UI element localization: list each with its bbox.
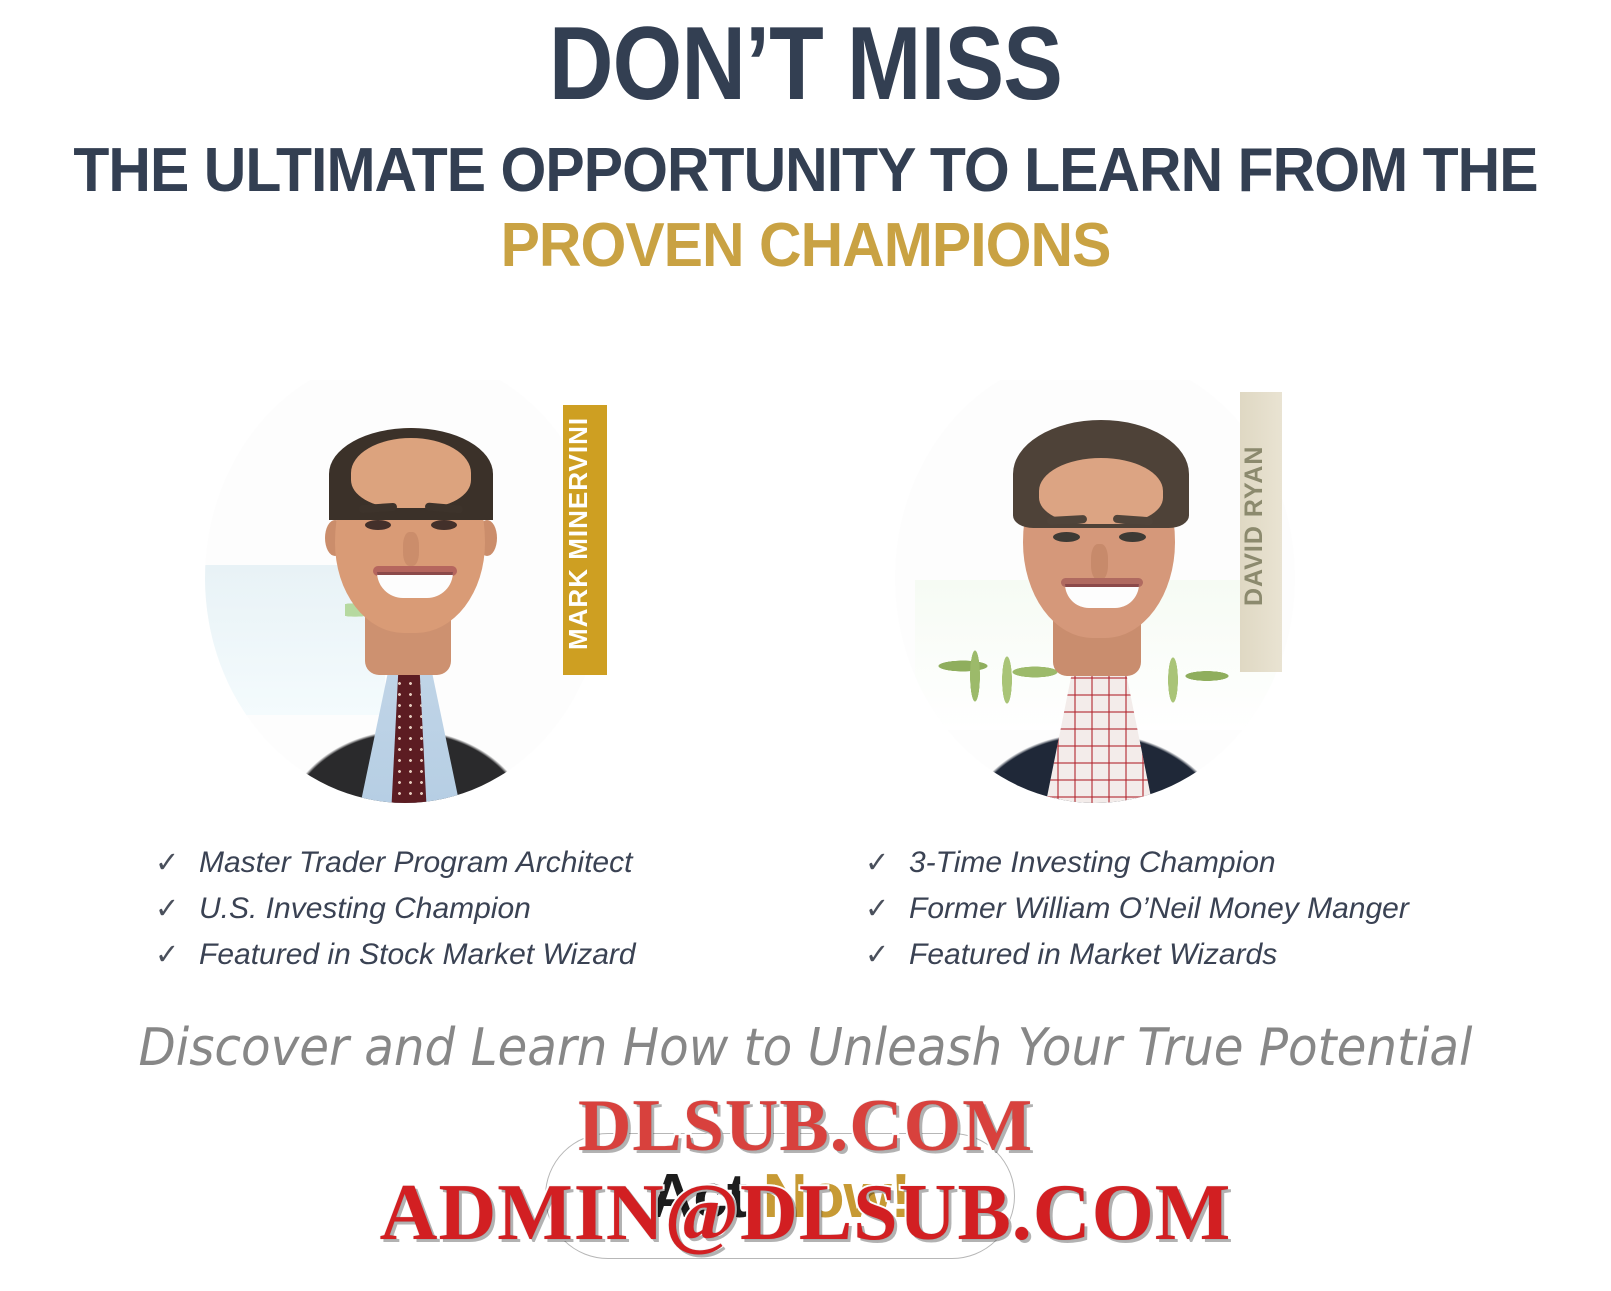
headline-line-1: DON’T MISS	[113, 12, 1498, 116]
list-item-label: Featured in Stock Market Wizard	[199, 938, 636, 972]
tagline: Discover and Learn How to Unleash Your T…	[56, 1018, 1554, 1078]
speaker-name-bar-mark-minervini: MARK MINERVINI	[563, 405, 607, 675]
speaker-photo-wrap-right: DAVID RYAN	[875, 370, 1320, 830]
credentials-list-david-ryan: ✓ 3-Time Investing Champion ✓ Former Wil…	[865, 845, 1409, 983]
list-item-label: Former William O’Neil Money Manger	[909, 892, 1409, 926]
check-icon: ✓	[155, 845, 199, 880]
watermark-email: ADMIN@DLSUB.COM	[0, 1168, 1611, 1259]
list-item-label: Featured in Market Wizards	[909, 938, 1277, 972]
check-icon: ✓	[155, 937, 199, 972]
credentials-list-mark-minervini: ✓ Master Trader Program Architect ✓ U.S.…	[155, 845, 636, 983]
headline-line-2: THE ULTIMATE OPPORTUNITY TO LEARN FROM T…	[40, 140, 1570, 202]
speaker-portrait-mark-minervini	[205, 380, 605, 830]
check-icon: ✓	[865, 891, 909, 926]
check-icon: ✓	[865, 937, 909, 972]
list-item: ✓ Featured in Market Wizards	[865, 937, 1409, 972]
list-item: ✓ Former William O’Neil Money Manger	[865, 891, 1409, 926]
speaker-card-david-ryan: DAVID RYAN	[875, 370, 1320, 830]
speaker-name-bar-david-ryan: DAVID RYAN	[1240, 392, 1282, 672]
speaker-portrait-david-ryan	[895, 380, 1295, 830]
list-item: ✓ Featured in Stock Market Wizard	[155, 937, 636, 972]
list-item-label: Master Trader Program Architect	[199, 846, 632, 880]
watermark-site: DLSUB.COM	[0, 1084, 1611, 1169]
list-item-label: 3-Time Investing Champion	[909, 846, 1276, 880]
check-icon: ✓	[155, 891, 199, 926]
check-icon: ✓	[865, 845, 909, 880]
headline-line-3-proven-champions: PROVEN CHAMPIONS	[40, 215, 1570, 277]
speaker-card-mark-minervini: MARK MINERVINI	[175, 370, 635, 830]
list-item-label: U.S. Investing Champion	[199, 892, 531, 926]
list-item: ✓ 3-Time Investing Champion	[865, 845, 1409, 880]
list-item: ✓ Master Trader Program Architect	[155, 845, 636, 880]
list-item: ✓ U.S. Investing Champion	[155, 891, 636, 926]
speaker-photo-wrap-left: MARK MINERVINI	[175, 370, 635, 830]
